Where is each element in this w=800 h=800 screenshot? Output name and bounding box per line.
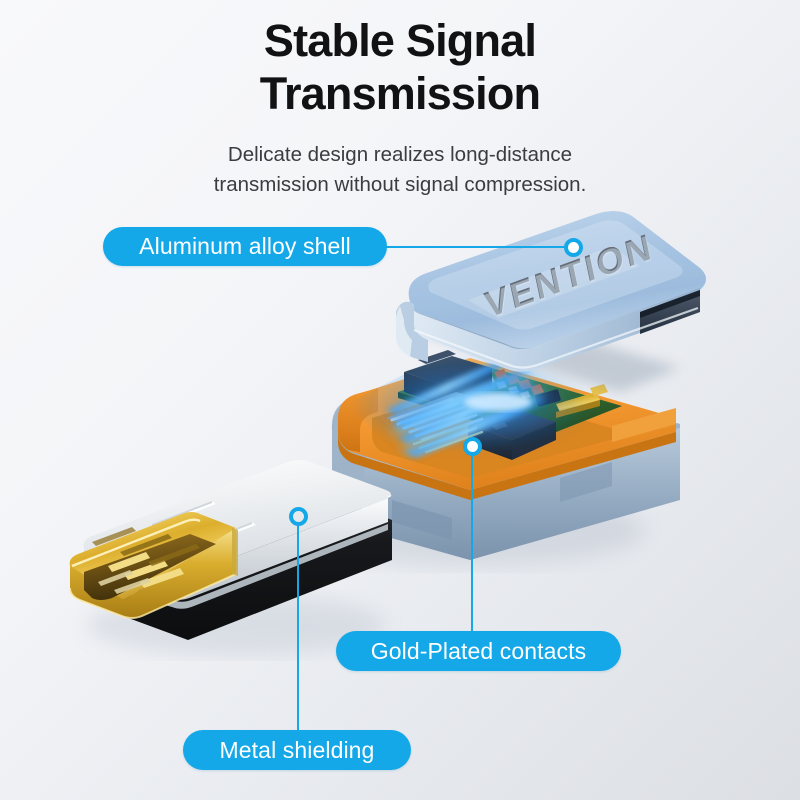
plug-seam xyxy=(232,528,238,576)
callout-marker-gold-plated-contacts xyxy=(463,437,482,456)
leader-line-aluminum-alloy-shell xyxy=(382,246,578,248)
leader-line-metal-shielding xyxy=(297,522,299,731)
product-feature-banner: VENTION VENTION xyxy=(0,0,800,800)
callout-metal-shielding[interactable]: Metal shielding xyxy=(183,730,411,770)
callout-label-aluminum-alloy-shell: Aluminum alloy shell xyxy=(139,233,351,260)
callout-aluminum-alloy-shell[interactable]: Aluminum alloy shell xyxy=(103,227,387,266)
callout-label-gold-plated-contacts: Gold-Plated contacts xyxy=(371,638,587,665)
page-subtitle: Delicate design realizes long-distance t… xyxy=(0,140,800,199)
leader-line-gold-plated-contacts xyxy=(471,452,473,632)
callout-marker-aluminum-alloy-shell xyxy=(564,238,583,257)
callout-gold-plated-contacts[interactable]: Gold-Plated contacts xyxy=(336,631,621,671)
page-title: Stable Signal Transmission xyxy=(0,14,800,120)
callout-marker-metal-shielding xyxy=(289,507,308,526)
callout-label-metal-shielding: Metal shielding xyxy=(220,737,375,764)
